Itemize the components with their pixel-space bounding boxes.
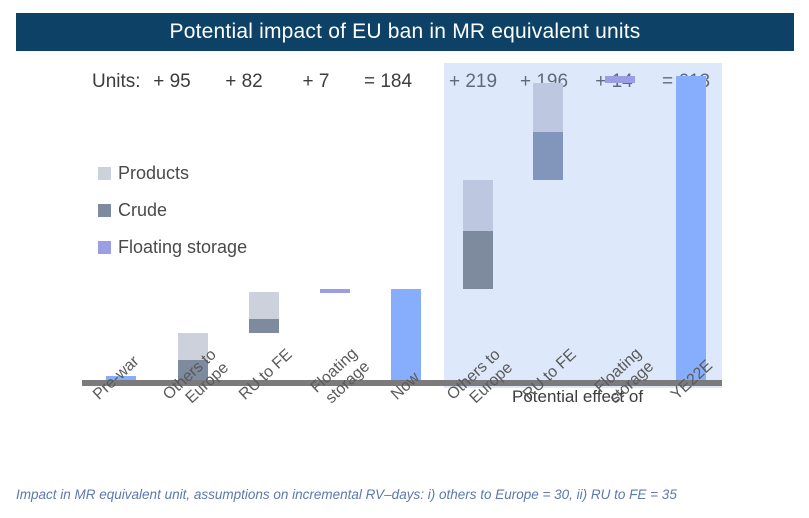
bar-segment-crude [463,231,493,289]
bar-floating-storage-3 [320,289,350,293]
chart-page: Potential impact of EU ban in MR equival… [0,0,809,518]
bar-ye22e-8 [676,76,706,380]
bar-ru-to-fe-6 [533,83,563,180]
bar-segment-floating-storage [605,76,635,83]
legend-swatch-crude-icon [98,204,111,217]
bar-segment-total [676,76,706,380]
legend-label-crude: Crude [118,200,167,221]
bar-ru-to-fe-2 [249,292,279,333]
units-value-others-europe-future: + 219 [437,67,509,97]
plot-area: Units: + 95 + 82 + 7 = 184 + 219 + 196 +… [0,55,809,475]
legend-swatch-floating-storage-icon [98,241,111,254]
legend-item-products: Products [98,159,247,188]
bar-segment-crude [533,132,563,180]
units-value-prewar-to-others: + 95 [136,67,208,97]
page-title: Potential impact of EU ban in MR equival… [170,20,641,44]
bar-now-4 [391,289,421,380]
units-row-label: Units: [92,67,141,97]
bar-others-to-europe-5 [463,180,493,289]
bar-segment-products [463,180,493,231]
x-axis-labels: Pre-war Others toEurope RU to FE Floatin… [0,391,809,475]
bar-segment-total [391,289,421,380]
bar-segment-crude [249,319,279,332]
bar-segment-products [533,83,563,132]
legend-label-products: Products [118,163,189,184]
units-value-floating-storage: + 7 [280,67,352,97]
x-tick-ru-to-fe-1: RU to FE [236,346,296,404]
chart-legend: Products Crude Floating storage [98,159,247,270]
legend-label-floating-storage: Floating storage [118,237,247,258]
bar-segment-floating-storage [320,289,350,293]
legend-item-floating-storage: Floating storage [98,233,247,262]
units-value-ru-to-fe: + 82 [208,67,280,97]
bar-floating-storage-7 [605,76,635,83]
x-tick-line: RU to FE [236,346,296,404]
legend-item-crude: Crude [98,196,247,225]
units-value-now-total: = 184 [352,67,424,97]
x-tick-floating-storage-1: Floatingstorage [300,345,374,417]
x-tick-others-to-europe-1: Others toEurope [160,346,233,417]
chart-title-bar: Potential impact of EU ban in MR equival… [16,13,794,51]
chart-footnote: Impact in MR equivalent unit, assumption… [16,487,677,502]
legend-swatch-products-icon [98,167,111,180]
bar-segment-products [249,292,279,319]
